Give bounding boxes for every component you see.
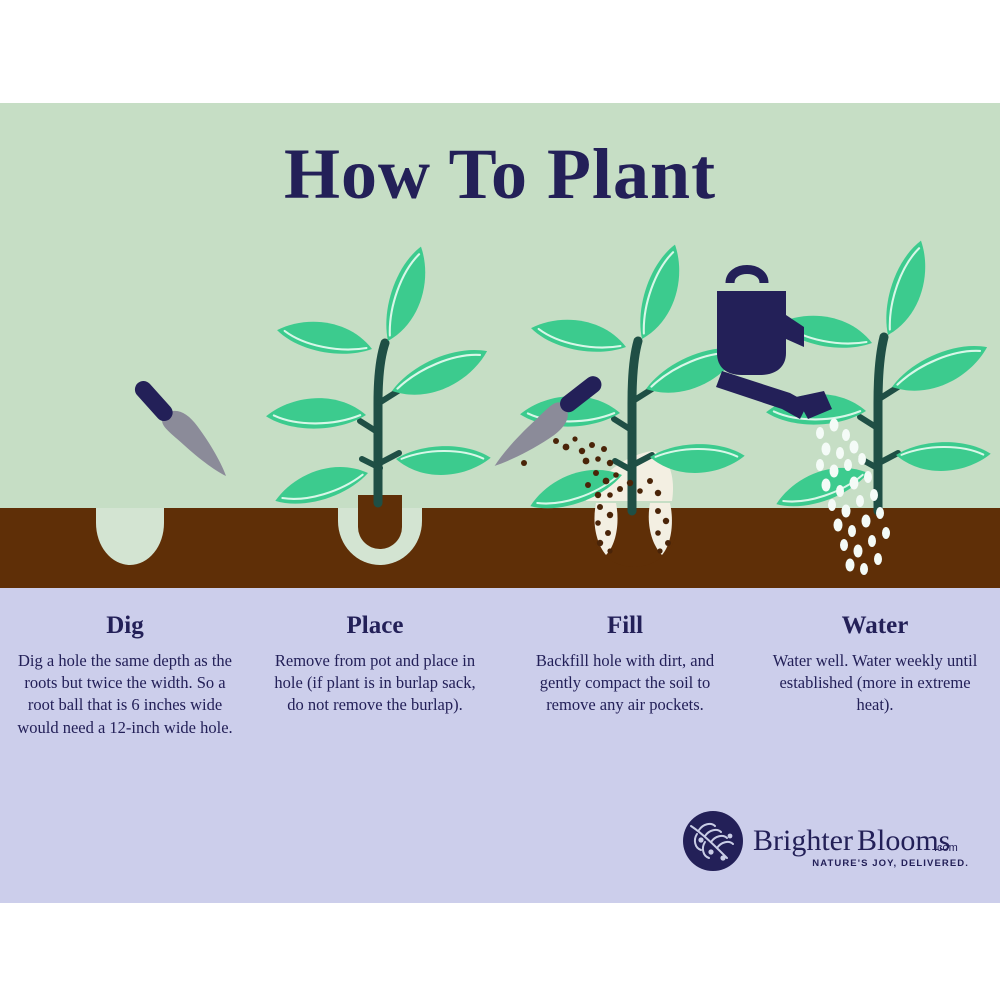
scene-fill — [487, 242, 748, 567]
step-heading-place: Place — [266, 612, 484, 640]
illustration-layer — [0, 103, 1000, 588]
step-column-place: Place Remove from pot and place in hole … — [250, 612, 500, 739]
step-heading-water: Water — [766, 612, 984, 640]
logo-tagline: NATURE'S JOY, DELIVERED. — [812, 858, 969, 869]
logo-brand-primary: Brighter — [753, 824, 853, 857]
step-body-water: Water well. Water weekly until establish… — [766, 650, 984, 717]
step-body-dig: Dig a hole the same depth as the roots b… — [16, 650, 234, 740]
infographic-poster: How To Plant — [0, 0, 1000, 1000]
step-body-place: Remove from pot and place in hole (if pl… — [266, 650, 484, 717]
watering-can-icon — [716, 270, 832, 420]
brand-logo[interactable]: Brighter Blooms .com NATURE'S JOY, DELIV… — [681, 808, 971, 874]
scene-place — [265, 244, 493, 565]
olive-branch-circle-icon — [683, 811, 743, 871]
logo-brand-suffix: .com — [934, 842, 958, 854]
steps-caption-row: Dig Dig a hole the same depth as the roo… — [0, 612, 1000, 739]
step-heading-dig: Dig — [16, 612, 234, 640]
scene-dig — [96, 377, 235, 564]
step-body-fill: Backfill hole with dirt, and gently comp… — [516, 650, 734, 717]
step-column-fill: Fill Backfill hole with dirt, and gently… — [500, 612, 750, 739]
step-column-water: Water Water well. Water weekly until est… — [750, 612, 1000, 739]
scene-water — [716, 238, 994, 575]
step-heading-fill: Fill — [516, 612, 734, 640]
step-column-dig: Dig Dig a hole the same depth as the roo… — [0, 612, 250, 739]
